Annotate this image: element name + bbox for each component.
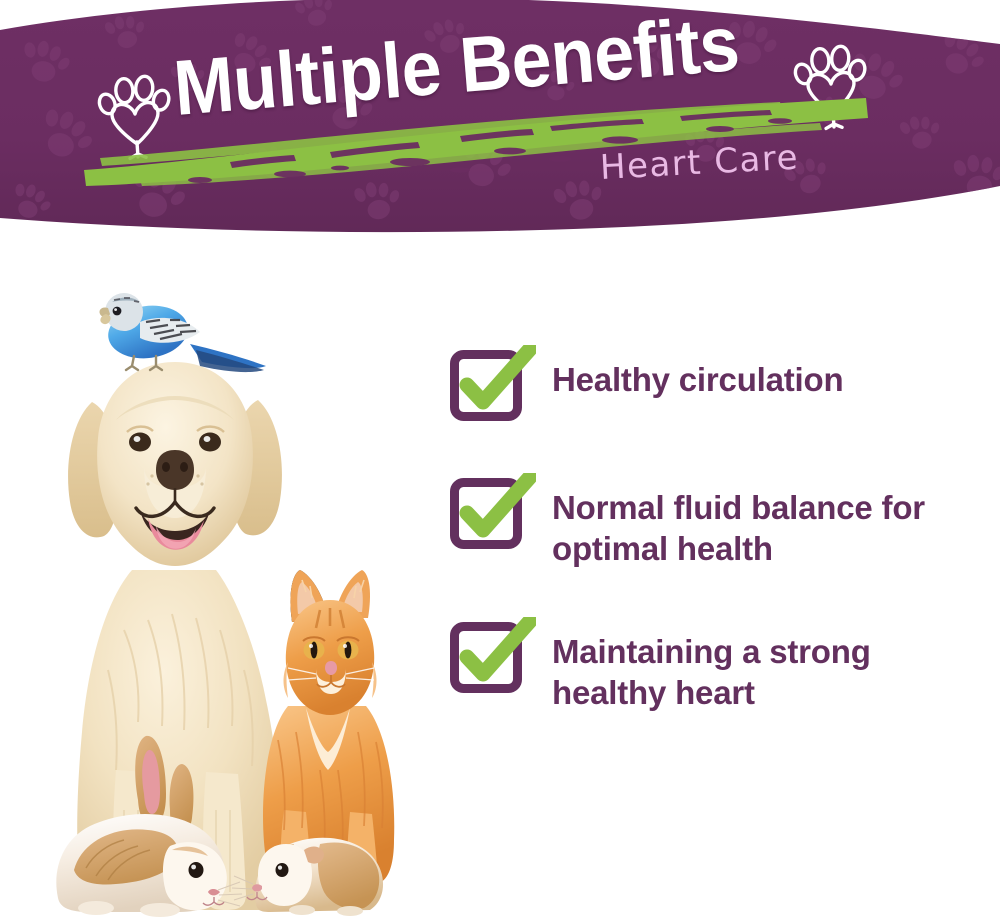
benefit-label: Healthy circulation [552,345,843,400]
paw-heart-icon-right [789,35,873,132]
benefit-label: Normal fluid balance for optimal health [552,473,980,569]
pets-group-photo [20,270,440,920]
benefit-item-strong-healthy-heart[interactable]: Maintaining a strong healthy heart [450,617,980,713]
content-area: Healthy circulation Normal fluid balance… [0,250,1000,923]
checkbox-checked-icon[interactable] [450,617,536,697]
benefit-item-healthy-circulation[interactable]: Healthy circulation [450,345,980,425]
header-banner: Multiple Benefits Heart Care [0,0,1000,250]
benefit-label: Maintaining a strong healthy heart [552,617,980,713]
benefit-item-normal-fluid-balance[interactable]: Normal fluid balance for optimal health [450,473,980,569]
benefits-list: Healthy circulation Normal fluid balance… [450,345,980,761]
infographic-page: Multiple Benefits Heart Care [0,0,1000,923]
checkbox-checked-icon[interactable] [450,473,536,553]
checkbox-checked-icon[interactable] [450,345,536,425]
paw-heart-icon-left [93,65,177,162]
